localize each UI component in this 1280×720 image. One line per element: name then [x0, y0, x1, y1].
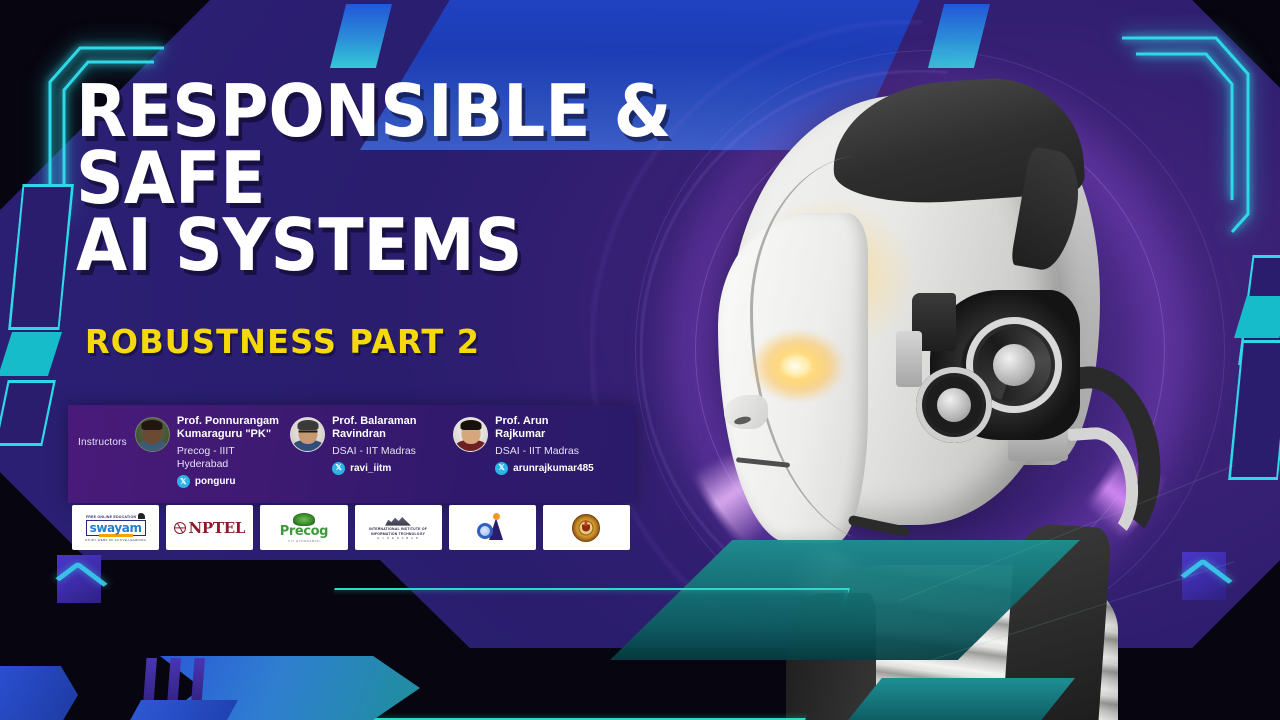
precog-wordmark: recog	[289, 524, 328, 539]
robot-eye-core	[778, 353, 812, 379]
handle-text: ravi_iitm	[350, 463, 391, 474]
avatar	[135, 417, 170, 452]
instructor-card: Prof. Ponnurangam Kumaraguru "PK" Precog…	[135, 415, 284, 488]
instructor-name: Prof. Arun Rajkumar	[495, 415, 594, 442]
instructor-affiliation: DSAI - IIT Madras	[332, 445, 416, 458]
instructor-handle[interactable]: 𝕏 ponguru	[177, 475, 279, 488]
chevron-accent-left	[57, 555, 101, 603]
logo-swayam: FREE ONLINE EDUCATION swayam STUDY WEBS …	[72, 505, 159, 550]
page-subtitle: Robustness Part 2	[85, 322, 480, 361]
handle-text: ponguru	[195, 476, 236, 487]
instructor-name: Prof. Balaraman Ravindran	[332, 415, 416, 442]
instructor-card: Prof. Arun Rajkumar DSAI - IIT Madras 𝕏 …	[453, 415, 620, 475]
instructor-card: Prof. Balaraman Ravindran DSAI - IIT Mad…	[290, 415, 447, 475]
swayam-mark-icon	[138, 513, 145, 519]
iiit-line-1: INTERNATIONAL INSTITUTE OF	[369, 527, 427, 531]
partner-logo-bar: FREE ONLINE EDUCATION swayam STUDY WEBS …	[68, 505, 634, 550]
logo-precog: Precog IIIT HYDERABAD	[260, 505, 347, 550]
avatar	[290, 417, 325, 452]
x-icon: 𝕏	[177, 475, 190, 488]
instructor-handle[interactable]: 𝕏 ravi_iitm	[332, 462, 416, 475]
logo-nptel: NPTEL	[166, 505, 253, 550]
bottom-teal-shape-2	[845, 678, 1075, 720]
robot-ear-hub	[993, 344, 1035, 386]
title-card: Responsible & Safe AI Systems Robustness…	[0, 0, 1280, 720]
swayam-wordmark: swayam	[90, 521, 142, 535]
title-line-1: Responsible & Safe	[76, 69, 671, 220]
x-icon: 𝕏	[495, 462, 508, 475]
nptel-wordmark: NPTEL	[188, 519, 245, 537]
avatar	[453, 417, 488, 452]
robot-ear-small-hub	[937, 388, 971, 422]
swayam-bottom-text: STUDY WEBS OF ACTIVE-LEARNING	[85, 538, 146, 542]
robot-side-tab-metal	[896, 331, 922, 387]
x-icon: 𝕏	[332, 462, 345, 475]
instructor-handle[interactable]: 𝕏 arunrajkumar485	[495, 462, 594, 475]
logo-iit-madras-seal	[543, 505, 630, 550]
neon-bracket-top-right	[1120, 18, 1260, 288]
instructors-panel: Instructors Prof. Ponnurangam Kumaraguru…	[68, 405, 634, 503]
wheel-icon	[174, 522, 186, 534]
logo-ai-mark	[449, 505, 536, 550]
logo-iiit-hyderabad: INTERNATIONAL INSTITUTE OF INFORMATION T…	[355, 505, 442, 550]
page-title: Responsible & Safe AI Systems	[76, 78, 720, 279]
title-line-2: AI Systems	[76, 212, 720, 279]
iiit-line-3: H Y D E R A B A D	[377, 537, 419, 540]
swayam-top-text: FREE ONLINE EDUCATION	[86, 515, 136, 519]
ai-monogram-icon	[475, 515, 509, 541]
instructor-name: Prof. Ponnurangam Kumaraguru "PK"	[177, 415, 279, 442]
instructor-affiliation: DSAI - IIT Madras	[495, 445, 594, 458]
instructor-affiliation: Precog - IIIT Hyderabad	[177, 445, 279, 471]
robot-nose	[724, 395, 768, 429]
building-icon	[385, 515, 411, 526]
precog-subtext: IIIT HYDERABAD	[288, 539, 320, 543]
instructors-label: Instructors	[78, 437, 127, 448]
bottom-blue-chip-2	[128, 700, 238, 720]
precog-prefix: P	[280, 524, 289, 539]
seal-icon	[572, 514, 600, 542]
iiit-line-2: INFORMATION TECHNOLOGY	[371, 532, 425, 536]
handle-text: arunrajkumar485	[513, 463, 594, 474]
